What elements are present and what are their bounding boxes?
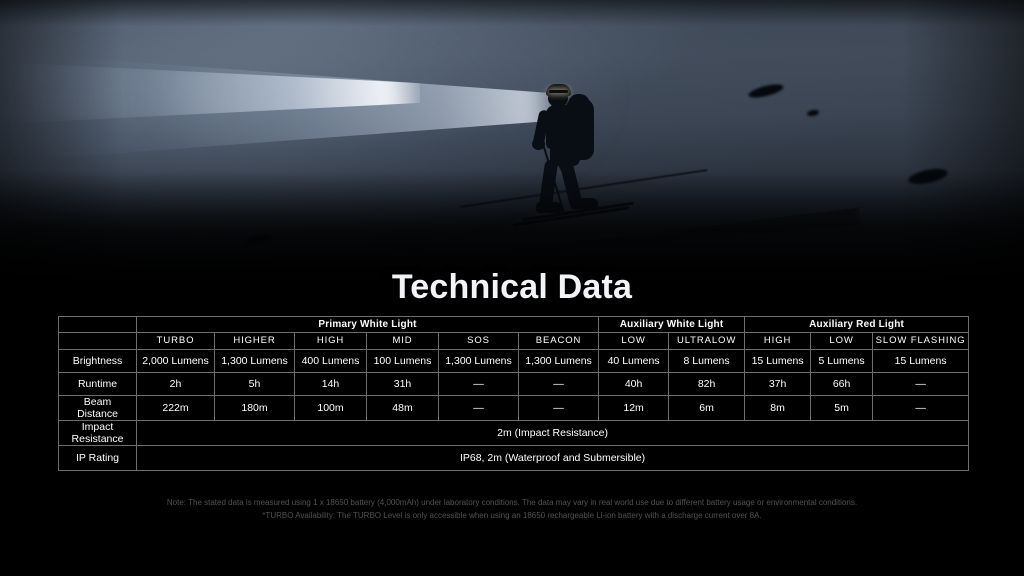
row-label-beam-distance-line2: Distance (77, 408, 118, 420)
cell-brightness-red-high: 15 Lumens (745, 350, 811, 373)
row-label-runtime: Runtime (59, 373, 137, 396)
table-row-runtime: Runtime 2h 5h 14h 31h — — 40h 82h 37h 66… (59, 373, 969, 396)
table-row-beam-distance: Beam Distance 222m 180m 100m 48m — — 12m… (59, 396, 969, 421)
mode-header-aux-low: LOW (599, 333, 669, 350)
cell-brightness-aux-low: 40 Lumens (599, 350, 669, 373)
mode-header-red-high: HIGH (745, 333, 811, 350)
cell-runtime-sos: — (439, 373, 519, 396)
cell-brightness-beacon: 1,300 Lumens (519, 350, 599, 373)
table-mode-header-row: TURBO HIGHER HIGH MID SOS BEACON LOW ULT… (59, 333, 969, 350)
cell-brightness-red-low: 5 Lumens (811, 350, 873, 373)
technical-data-table: Primary White Light Auxiliary White Ligh… (58, 316, 968, 471)
cell-runtime-aux-ultralow: 82h (669, 373, 745, 396)
table-row-ip-rating: IP Rating IP68, 2m (Waterproof and Subme… (59, 446, 969, 471)
cell-beam-red-low: 5m (811, 396, 873, 421)
mode-header-slow-flashing: SLOW FLASHING (873, 333, 969, 350)
cell-runtime-red-low: 66h (811, 373, 873, 396)
cell-brightness-slow-flashing: 15 Lumens (873, 350, 969, 373)
group-header-auxiliary-white-light: Auxiliary White Light (599, 317, 745, 333)
cell-runtime-red-high: 37h (745, 373, 811, 396)
cell-beam-sos: — (439, 396, 519, 421)
group-header-auxiliary-red-light: Auxiliary Red Light (745, 317, 969, 333)
cell-runtime-slow-flashing: — (873, 373, 969, 396)
cell-beam-red-high: 8m (745, 396, 811, 421)
cell-brightness-high: 400 Lumens (295, 350, 367, 373)
cell-brightness-mid: 100 Lumens (367, 350, 439, 373)
mode-header-aux-ultralow: ULTRALOW (669, 333, 745, 350)
cell-ip-rating-value: IP68, 2m (Waterproof and Submersible) (137, 446, 969, 471)
cell-brightness-aux-ultralow: 8 Lumens (669, 350, 745, 373)
cell-runtime-high: 14h (295, 373, 367, 396)
cell-brightness-turbo: 2,000 Lumens (137, 350, 215, 373)
cell-beam-higher: 180m (215, 396, 295, 421)
mode-header-higher: HIGHER (215, 333, 295, 350)
cell-impact-resistance-value: 2m (Impact Resistance) (137, 421, 969, 446)
cell-runtime-beacon: — (519, 373, 599, 396)
footnote: Note: The stated data is measured using … (0, 496, 1024, 522)
cell-beam-beacon: — (519, 396, 599, 421)
footnote-line-1: Note: The stated data is measured using … (0, 496, 1024, 509)
cell-beam-mid: 48m (367, 396, 439, 421)
row-label-impact-line1: Impact (82, 421, 114, 433)
page-title: Technical Data (0, 268, 1024, 307)
mode-header-sos: SOS (439, 333, 519, 350)
cell-runtime-aux-low: 40h (599, 373, 669, 396)
cell-beam-slow-flashing: — (873, 396, 969, 421)
row-label-ip-rating: IP Rating (59, 446, 137, 471)
cell-brightness-sos: 1,300 Lumens (439, 350, 519, 373)
row-label-brightness: Brightness (59, 350, 137, 373)
row-label-impact-resistance: Impact Resistance (59, 421, 137, 446)
group-header-blank (59, 317, 137, 333)
cell-beam-aux-low: 12m (599, 396, 669, 421)
cell-runtime-turbo: 2h (137, 373, 215, 396)
mode-header-turbo: TURBO (137, 333, 215, 350)
cell-runtime-mid: 31h (367, 373, 439, 396)
row-label-beam-distance-line1: Beam (84, 396, 111, 408)
table-group-header-row: Primary White Light Auxiliary White Ligh… (59, 317, 969, 333)
cell-beam-turbo: 222m (137, 396, 215, 421)
table-row-impact-resistance: Impact Resistance 2m (Impact Resistance) (59, 421, 969, 446)
mode-header-mid: MID (367, 333, 439, 350)
row-label-impact-line2: Resistance (72, 433, 124, 445)
cell-beam-high: 100m (295, 396, 367, 421)
mode-header-blank (59, 333, 137, 350)
cell-beam-aux-ultralow: 6m (669, 396, 745, 421)
mode-header-high: HIGH (295, 333, 367, 350)
footnote-line-2: *TURBO Availability: The TURBO Level is … (0, 509, 1024, 522)
hero-image (0, 0, 1024, 300)
mode-header-red-low: LOW (811, 333, 873, 350)
cell-brightness-higher: 1,300 Lumens (215, 350, 295, 373)
group-header-primary-white-light: Primary White Light (137, 317, 599, 333)
mode-header-beacon: BEACON (519, 333, 599, 350)
cell-runtime-higher: 5h (215, 373, 295, 396)
row-label-beam-distance: Beam Distance (59, 396, 137, 421)
table-row-brightness: Brightness 2,000 Lumens 1,300 Lumens 400… (59, 350, 969, 373)
